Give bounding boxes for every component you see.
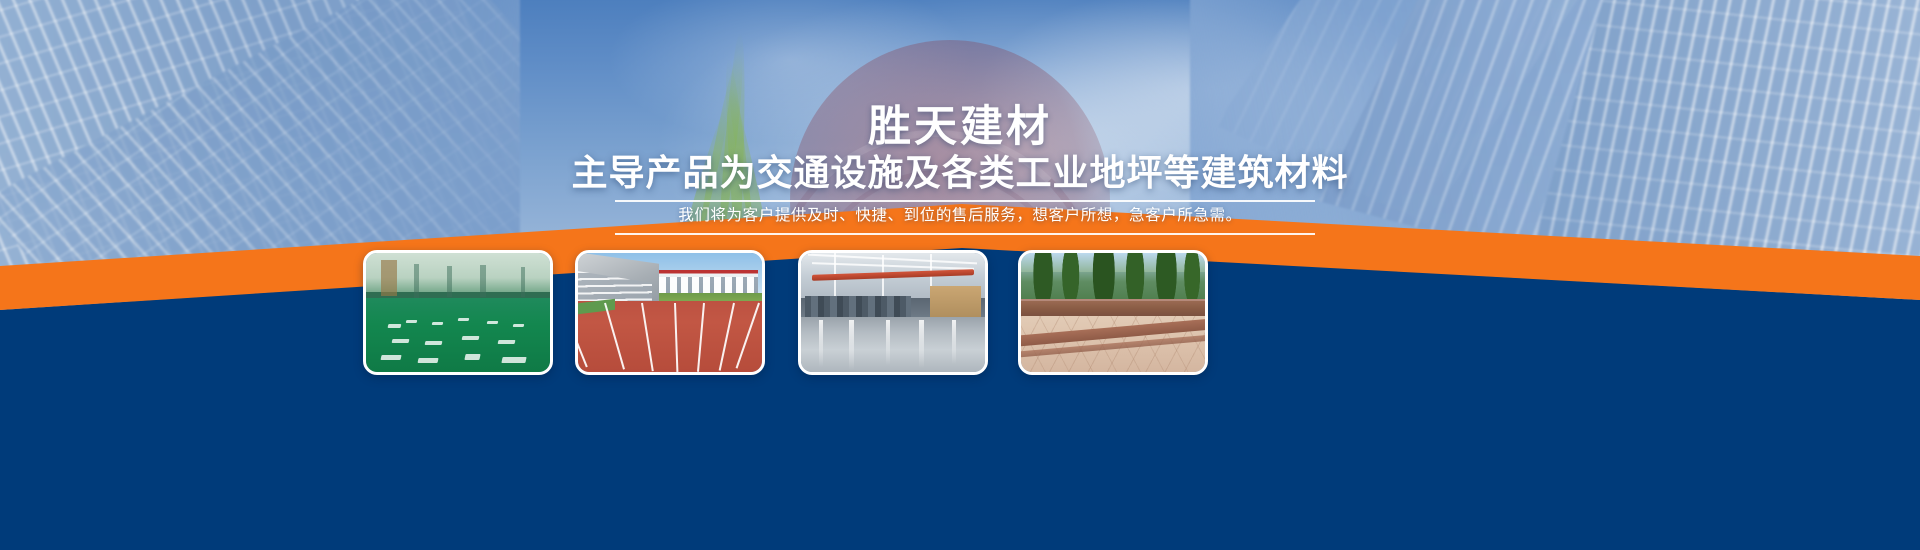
thumbnail-warehouse-concrete-floor[interactable] [798,250,988,375]
thumbnail-red-running-track[interactable] [575,250,765,375]
divider-bottom [615,233,1315,235]
divider-top [615,200,1315,202]
page-subtitle: 主导产品为交通设施及各类工业地坪等建筑材料 [0,144,1920,196]
thumbnail-stamped-concrete-pavement[interactable] [1018,250,1208,375]
thumbnail-strip [0,250,1920,380]
page-tagline: 我们将为客户提供及时、快捷、到位的售后服务，想客户所想，急客户所急需。 [0,203,1920,225]
hero-banner: 胜天建材 主导产品为交通设施及各类工业地坪等建筑材料 我们将为客户提供及时、快捷… [0,0,1920,550]
thumbnail-green-epoxy-floor[interactable] [363,250,553,375]
